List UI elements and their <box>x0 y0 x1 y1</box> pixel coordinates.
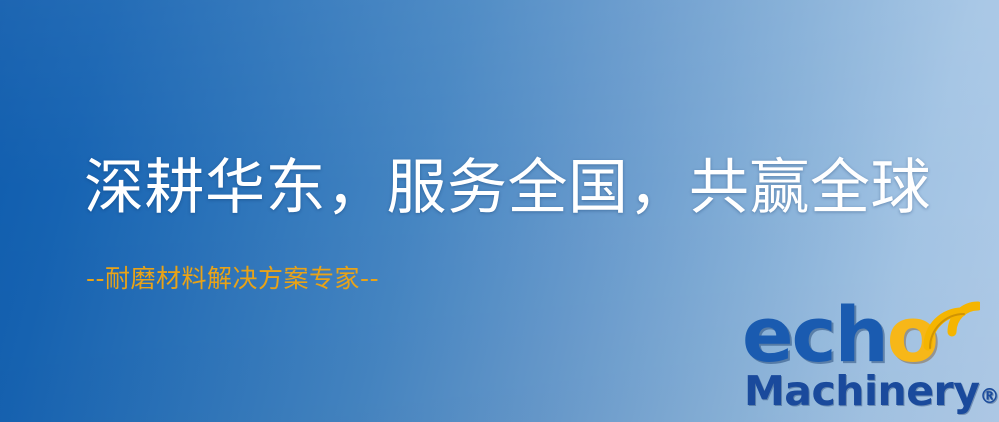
logo-word-ech: ech <box>742 290 887 379</box>
banner-subheadline: --耐磨材料解决方案专家-- <box>86 262 379 296</box>
echo-machinery-logo: echo Machinery® <box>742 296 994 420</box>
registered-trademark-icon: ® <box>979 384 999 408</box>
wifi-signal-arcs-icon <box>918 294 980 354</box>
logo-tagline-text: Machinery <box>744 367 979 415</box>
promo-banner: 深耕华东，服务全国，共赢全球 --耐磨材料解决方案专家-- echo Machi… <box>0 0 999 422</box>
logo-wordmark: echo <box>742 296 937 374</box>
banner-headline: 深耕华东，服务全国，共赢全球 <box>84 154 931 222</box>
logo-tagline: Machinery® <box>744 368 999 414</box>
